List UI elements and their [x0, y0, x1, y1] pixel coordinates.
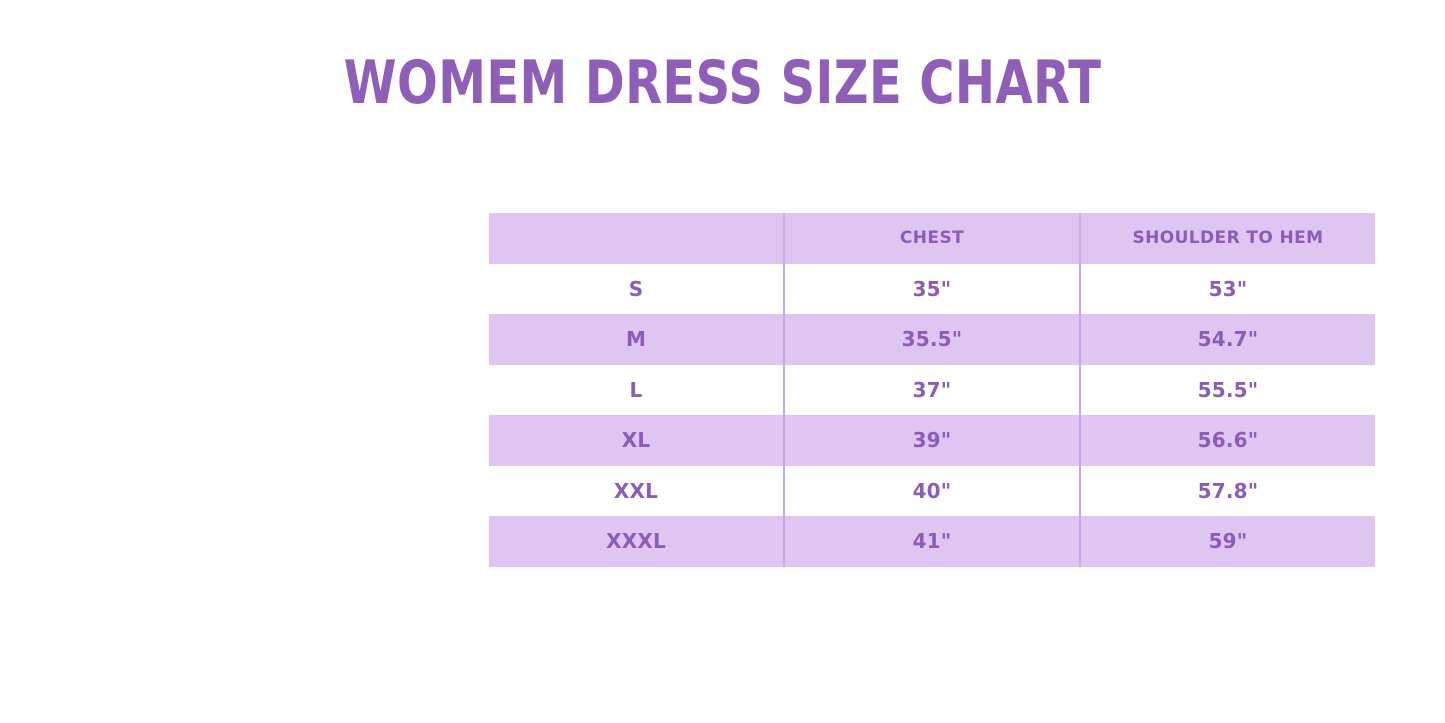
cell-size: L: [489, 365, 784, 416]
cell-size: XXXL: [489, 516, 784, 567]
cell-chest: 35.5": [784, 314, 1080, 365]
cell-size: XXL: [489, 466, 784, 517]
cell-shoulder-to-hem: 59": [1080, 516, 1375, 567]
cell-chest: 37": [784, 365, 1080, 416]
cell-chest: 39": [784, 415, 1080, 466]
cell-chest: 40": [784, 466, 1080, 517]
cell-chest: 41": [784, 516, 1080, 567]
cell-shoulder-to-hem: 54.7": [1080, 314, 1375, 365]
cell-size: S: [489, 264, 784, 315]
table-body: S 35" 53" M 35.5" 54.7" L 37" 55.5" XL 3…: [489, 264, 1375, 567]
table-header: CHEST SHOULDER TO HEM: [489, 213, 1375, 264]
cell-size: XL: [489, 415, 784, 466]
column-header-chest: CHEST: [784, 213, 1080, 264]
cell-shoulder-to-hem: 53": [1080, 264, 1375, 315]
table-row: S 35" 53": [489, 264, 1375, 315]
column-header-size: [489, 213, 784, 264]
cell-shoulder-to-hem: 56.6": [1080, 415, 1375, 466]
table-header-row: CHEST SHOULDER TO HEM: [489, 213, 1375, 264]
table-row: L 37" 55.5": [489, 365, 1375, 416]
table-row: M 35.5" 54.7": [489, 314, 1375, 365]
cell-shoulder-to-hem: 55.5": [1080, 365, 1375, 416]
table-row: XXL 40" 57.8": [489, 466, 1375, 517]
table-row: XL 39" 56.6": [489, 415, 1375, 466]
cell-chest: 35": [784, 264, 1080, 315]
table-row: XXXL 41" 59": [489, 516, 1375, 567]
cell-size: M: [489, 314, 784, 365]
column-header-shoulder-to-hem: SHOULDER TO HEM: [1080, 213, 1375, 264]
cell-shoulder-to-hem: 57.8": [1080, 466, 1375, 517]
size-chart-table: CHEST SHOULDER TO HEM S 35" 53" M 35.5" …: [489, 213, 1375, 567]
page-title: WOMEM DRESS SIZE CHART: [145, 52, 1301, 115]
